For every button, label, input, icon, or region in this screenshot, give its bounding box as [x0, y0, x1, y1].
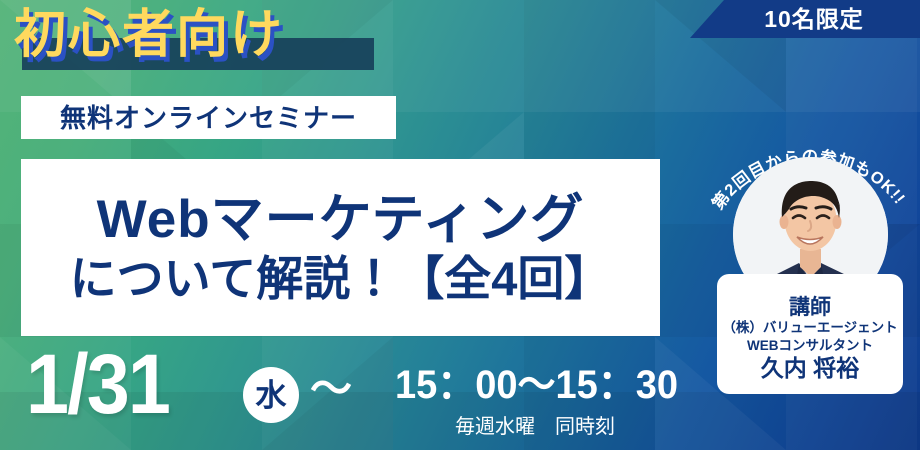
day-of-week-badge: 水 [243, 367, 299, 423]
speaker-name: 久内 将裕 [761, 355, 859, 383]
speaker-job-title: WEBコンサルタント [747, 337, 873, 355]
limited-seats-badge: 10名限定 [690, 0, 920, 38]
free-seminar-label: 無料オンラインセミナー [60, 105, 357, 131]
speaker-block: 第2回目からの参加もOK!! [700, 126, 920, 426]
speaker-role: 講師 [789, 296, 831, 320]
title-panel: Webマーケティング について解説！【全4回】 [21, 159, 660, 336]
day-of-week-label: 水 [256, 380, 287, 411]
beginner-heading: 初心者向け [14, 6, 374, 74]
date-value: 1/31 [26, 342, 169, 426]
beginner-heading-label: 初心者向け [14, 6, 284, 64]
free-seminar-strip: 無料オンラインセミナー [21, 96, 396, 139]
tilde-separator: 〜 [310, 368, 352, 410]
seminar-banner: 10名限定 初心者向け 無料オンラインセミナー Webマーケティング について解… [0, 0, 920, 450]
speaker-company: （株）バリューエージェント [722, 320, 897, 337]
title-line-2: について解説！【全4回】 [70, 253, 612, 305]
weekly-note-label: 毎週水曜 同時刻 [455, 417, 615, 437]
title-line-1: Webマーケティング [97, 191, 585, 249]
time-range-label: 15：00〜15：30 [395, 365, 678, 405]
date-block: 1/31 [26, 342, 182, 426]
speaker-info-card: 講師 （株）バリューエージェント WEBコンサルタント 久内 将裕 [717, 274, 903, 394]
limited-seats-label: 10名限定 [746, 8, 864, 31]
